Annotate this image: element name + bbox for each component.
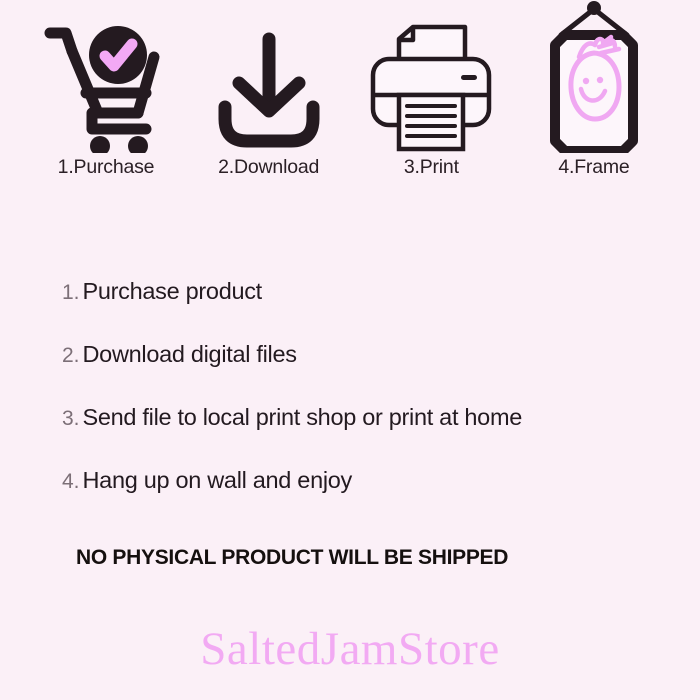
frame-mat-icon: [566, 46, 622, 140]
step-download-art: [213, 18, 325, 153]
step-print-art: [369, 18, 493, 153]
doodle-eye-left-icon: [583, 78, 589, 84]
step-print: 3.Print: [355, 18, 507, 198]
step-purchase-caption: 1.Purchase: [58, 156, 155, 179]
cart-wheel-right-icon: [128, 136, 148, 153]
printer-top-sheet-icon: [399, 27, 465, 59]
step-frame-art: [541, 18, 647, 153]
download-tray-icon: [213, 25, 325, 153]
list-item: 3. Send file to local print shop or prin…: [62, 404, 662, 431]
shopping-cart-check-icon: [42, 21, 170, 153]
list-item-label: Purchase product: [83, 278, 262, 305]
listing-instruction-graphic: 1.Purchase 2.Download: [0, 0, 700, 700]
disclaimer-text: NO PHYSICAL PRODUCT WILL BE SHIPPED: [76, 546, 508, 570]
list-item-number: 2.: [62, 344, 80, 368]
shop-brand-name: SaltedJamStore: [0, 622, 700, 676]
instruction-list: 1. Purchase product 2. Download digital …: [62, 278, 662, 530]
steps-strip: 1.Purchase 2.Download: [0, 18, 700, 198]
step-download-caption: 2.Download: [218, 156, 319, 179]
frame-nail-icon: [587, 1, 601, 15]
doodle-eye-right-icon: [597, 77, 603, 83]
step-print-caption: 3.Print: [404, 156, 459, 179]
printer-icon: [369, 23, 493, 153]
step-purchase: 1.Purchase: [30, 18, 182, 198]
step-frame-caption: 4.Frame: [558, 156, 629, 179]
printer-slot-icon: [461, 75, 477, 80]
list-item-label: Send file to local print shop or print a…: [83, 404, 522, 431]
list-item-label: Download digital files: [83, 341, 297, 368]
list-item-number: 3.: [62, 407, 80, 431]
step-purchase-art: [42, 18, 170, 153]
step-frame: 4.Frame: [518, 18, 670, 198]
list-item: 4. Hang up on wall and enjoy: [62, 467, 662, 494]
cart-wheel-left-icon: [90, 136, 110, 153]
list-item-label: Hang up on wall and enjoy: [83, 467, 352, 494]
list-item-number: 4.: [62, 470, 80, 494]
printer-output-paper-icon: [399, 95, 463, 149]
list-item: 1. Purchase product: [62, 278, 662, 305]
list-item-number: 1.: [62, 281, 80, 305]
hanging-picture-frame-icon: [541, 1, 647, 153]
list-item: 2. Download digital files: [62, 341, 662, 368]
step-download: 2.Download: [193, 18, 345, 198]
